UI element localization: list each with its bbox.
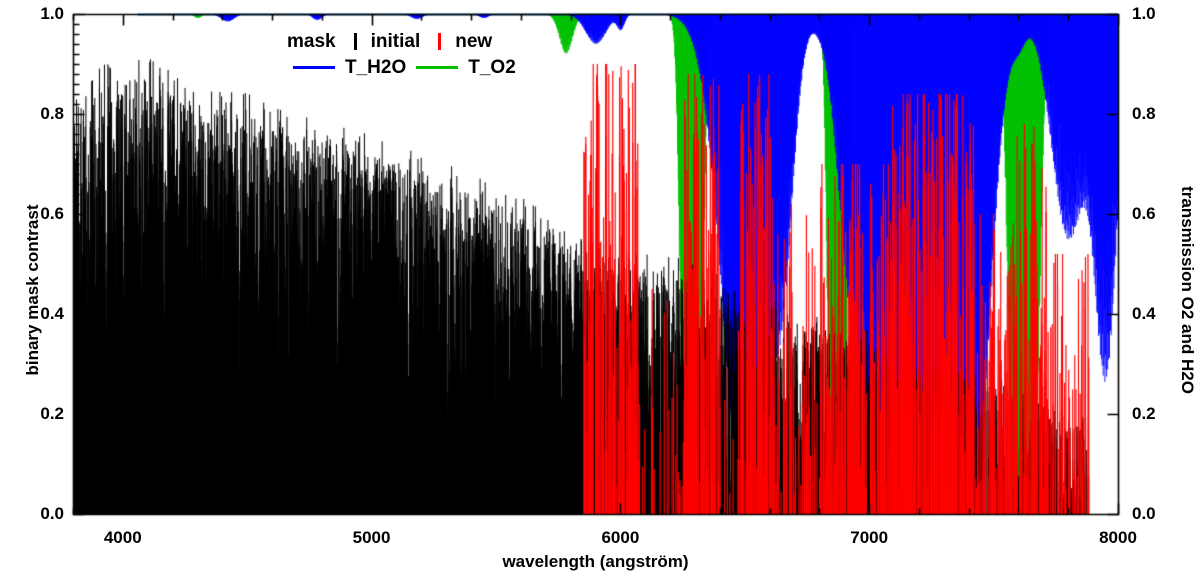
- plot-canvas: [0, 0, 1200, 580]
- legend-row-mask: mask initial new: [287, 28, 516, 54]
- legend: mask initial new T_H2O T_O2: [287, 28, 516, 80]
- legend-label-new: new: [455, 32, 492, 51]
- y-axis-right-title: transmission O2 and H2O: [1176, 0, 1198, 580]
- y-right-tick-label: 0.6: [1132, 204, 1188, 224]
- legend-label-initial: initial: [371, 32, 421, 51]
- legend-label-t-o2: T_O2: [468, 58, 516, 77]
- x-tick-label: 8000: [1073, 528, 1163, 548]
- y-left-tick-label: 0.8: [8, 104, 64, 124]
- legend-label-mask: mask: [287, 32, 336, 51]
- y-left-tick-label: 0.0: [8, 504, 64, 524]
- y-right-tick-label: 1.0: [1132, 4, 1188, 24]
- legend-row-transmission: T_H2O T_O2: [287, 54, 516, 80]
- y-right-tick-label: 0.2: [1132, 404, 1188, 424]
- y-left-tick-label: 0.6: [8, 204, 64, 224]
- y-right-tick-label: 0.8: [1132, 104, 1188, 124]
- legend-label-t-h2o: T_H2O: [345, 58, 406, 77]
- x-tick-label: 7000: [824, 528, 914, 548]
- spectral-mask-figure: binary mask contrast transmission O2 and…: [0, 0, 1200, 580]
- x-tick-label: 6000: [575, 528, 665, 548]
- x-axis-title: wavelength (angström): [73, 552, 1118, 572]
- y-left-tick-label: 1.0: [8, 4, 64, 24]
- y-left-tick-label: 0.4: [8, 304, 64, 324]
- y-right-tick-label: 0.4: [1132, 304, 1188, 324]
- y-right-tick-label: 0.0: [1132, 504, 1188, 524]
- x-tick-label: 5000: [327, 528, 417, 548]
- legend-h2o-line-icon: [293, 66, 335, 69]
- y-axis-left-title: binary mask contrast: [22, 0, 44, 580]
- legend-o2-line-icon: [416, 66, 458, 69]
- legend-initial-tick-icon: [354, 33, 357, 50]
- x-tick-label: 4000: [78, 528, 168, 548]
- legend-new-tick-icon: [438, 33, 441, 50]
- y-left-tick-label: 0.2: [8, 404, 64, 424]
